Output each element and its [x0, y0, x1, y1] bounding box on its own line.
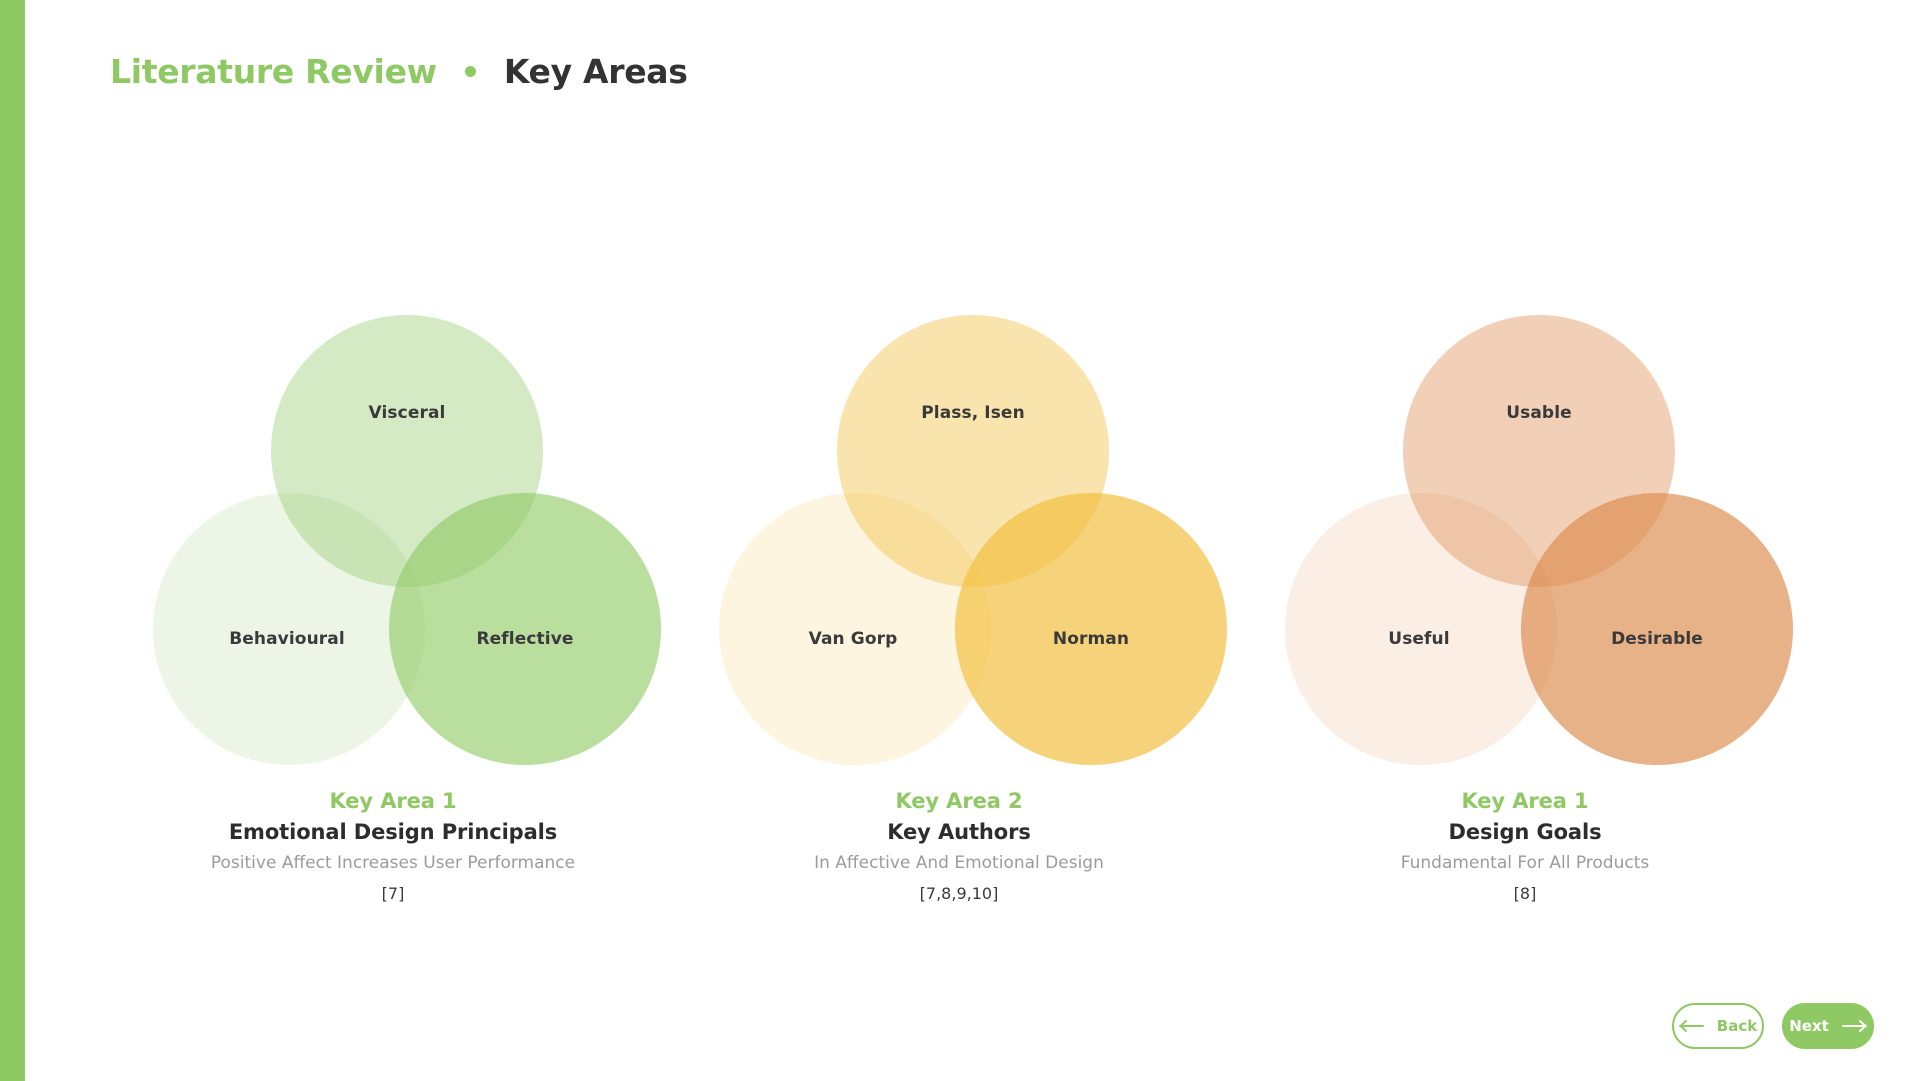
venn-figure-1: Behavioural Reflective Visceral [153, 315, 633, 765]
caption-subtitle: Positive Affect Increases User Performan… [211, 855, 575, 872]
venn-column-2: Van Gorp Norman Plass, Isen Key Area 2 K… [676, 315, 1242, 902]
left-accent-strip [0, 0, 25, 1081]
venn-circle-label: Plass, Isen [921, 403, 1025, 423]
navigation-buttons: Back Next [1672, 1003, 1874, 1049]
back-button[interactable]: Back [1672, 1003, 1764, 1049]
caption-title: Emotional Design Principals [211, 822, 575, 843]
venn-circle-3-top[interactable]: Usable [1403, 315, 1675, 587]
venn-circle-label: Norman [1053, 629, 1129, 649]
slide-header: Literature Review Key Areas [110, 52, 688, 91]
next-button[interactable]: Next [1782, 1003, 1874, 1049]
venn-circle-label: Van Gorp [809, 629, 898, 649]
caption-subtitle: Fundamental For All Products [1401, 855, 1649, 872]
venn-figure-2: Van Gorp Norman Plass, Isen [719, 315, 1199, 765]
back-button-label: Back [1717, 1017, 1757, 1035]
caption-kicker: Key Area 1 [1401, 791, 1649, 812]
venn-circle-label: Reflective [476, 629, 573, 649]
venn-column-1: Behavioural Reflective Visceral Key Area… [110, 315, 676, 902]
venn-circle-label: Desirable [1611, 629, 1703, 649]
venn-figure-3: Useful Desirable Usable [1285, 315, 1765, 765]
caption-reference: [8] [1401, 886, 1649, 902]
venn-caption-1: Key Area 1 Emotional Design Principals P… [211, 791, 575, 902]
arrow-left-icon [1679, 1020, 1705, 1032]
header-kicker: Literature Review [110, 52, 437, 91]
page-title: Key Areas [504, 52, 688, 91]
caption-kicker: Key Area 1 [211, 791, 575, 812]
bullet-dot-icon [465, 66, 476, 77]
venn-circle-label: Behavioural [229, 629, 345, 649]
caption-kicker: Key Area 2 [814, 791, 1104, 812]
venn-caption-3: Key Area 1 Design Goals Fundamental For … [1401, 791, 1649, 902]
next-button-label: Next [1789, 1017, 1829, 1035]
venn-circle-label: Useful [1388, 629, 1449, 649]
venn-column-3: Useful Desirable Usable Key Area 1 Desig… [1242, 315, 1808, 902]
venn-diagram-row: Behavioural Reflective Visceral Key Area… [110, 315, 1810, 902]
venn-circle-label: Visceral [369, 403, 446, 423]
venn-circle-1-top[interactable]: Visceral [271, 315, 543, 587]
caption-subtitle: In Affective And Emotional Design [814, 855, 1104, 872]
venn-circle-2-top[interactable]: Plass, Isen [837, 315, 1109, 587]
caption-title: Design Goals [1401, 822, 1649, 843]
venn-caption-2: Key Area 2 Key Authors In Affective And … [814, 791, 1104, 902]
arrow-right-icon [1841, 1020, 1867, 1032]
caption-reference: [7] [211, 886, 575, 902]
caption-reference: [7,8,9,10] [814, 886, 1104, 902]
caption-title: Key Authors [814, 822, 1104, 843]
venn-circle-label: Usable [1506, 403, 1572, 423]
